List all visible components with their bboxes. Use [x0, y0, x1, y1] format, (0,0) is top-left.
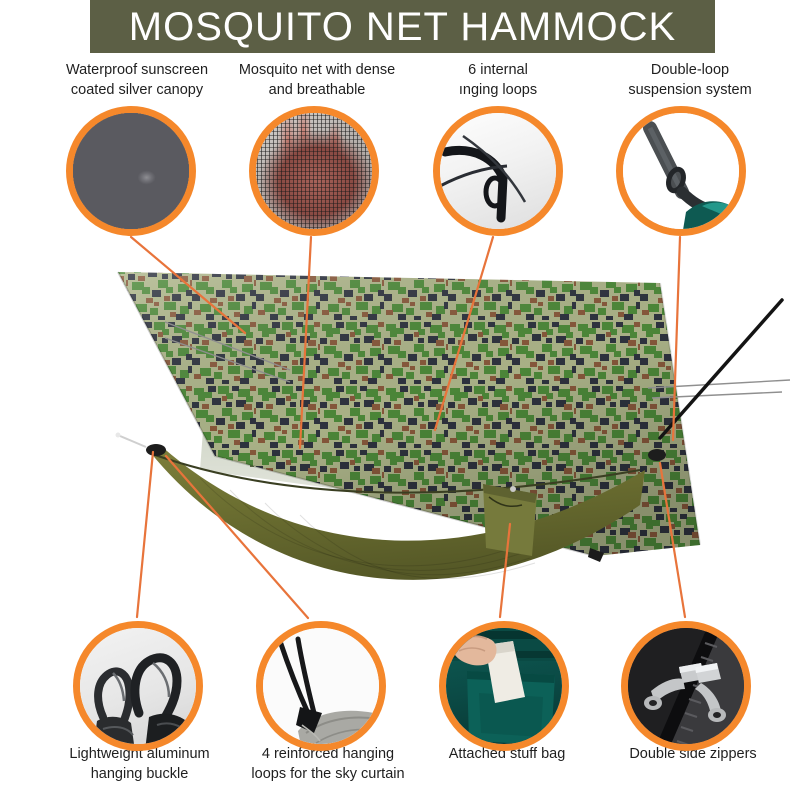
label-internal-loops: 6 internal ınging loops	[408, 60, 588, 100]
label-waterproof-canopy: Waterproof sunscreen coated silver canop…	[42, 60, 232, 100]
left-suspension-point	[116, 433, 167, 457]
tarp-loop-icon	[256, 621, 386, 751]
carabiner-icon	[73, 621, 203, 751]
label-mosquito-net: Mosquito net with dense and breathable	[222, 60, 412, 100]
callout-aluminum-buckle[interactable]	[73, 621, 203, 751]
callout-mosquito-net[interactable]	[249, 106, 379, 236]
water-droplets-icon	[66, 106, 196, 236]
callout-side-zippers[interactable]	[621, 621, 751, 751]
suspension-strap-icon	[616, 106, 746, 236]
callout-reinforced-loops[interactable]	[256, 621, 386, 751]
callout-double-loop-suspension[interactable]	[616, 106, 746, 236]
callout-internal-loops[interactable]	[433, 106, 563, 236]
right-suspension-point	[648, 449, 666, 461]
zipper-icon	[621, 621, 751, 751]
hanging-loop-icon	[433, 106, 563, 236]
callout-stuff-bag[interactable]	[439, 621, 569, 751]
stuff-bag-icon	[439, 621, 569, 751]
mesh-netting-icon	[249, 106, 379, 236]
infographic-page: MOSQUITO NET HAMMOCK Waterproof sunscree…	[0, 0, 800, 800]
attached-stuff-bag	[483, 484, 537, 556]
label-double-loop-suspension: Double-loop suspension system	[590, 60, 790, 100]
page-title: MOSQUITO NET HAMMOCK	[129, 7, 676, 47]
title-bar: MOSQUITO NET HAMMOCK	[90, 0, 715, 53]
tent-poles	[660, 300, 782, 438]
callout-waterproof-canopy[interactable]	[66, 106, 196, 236]
